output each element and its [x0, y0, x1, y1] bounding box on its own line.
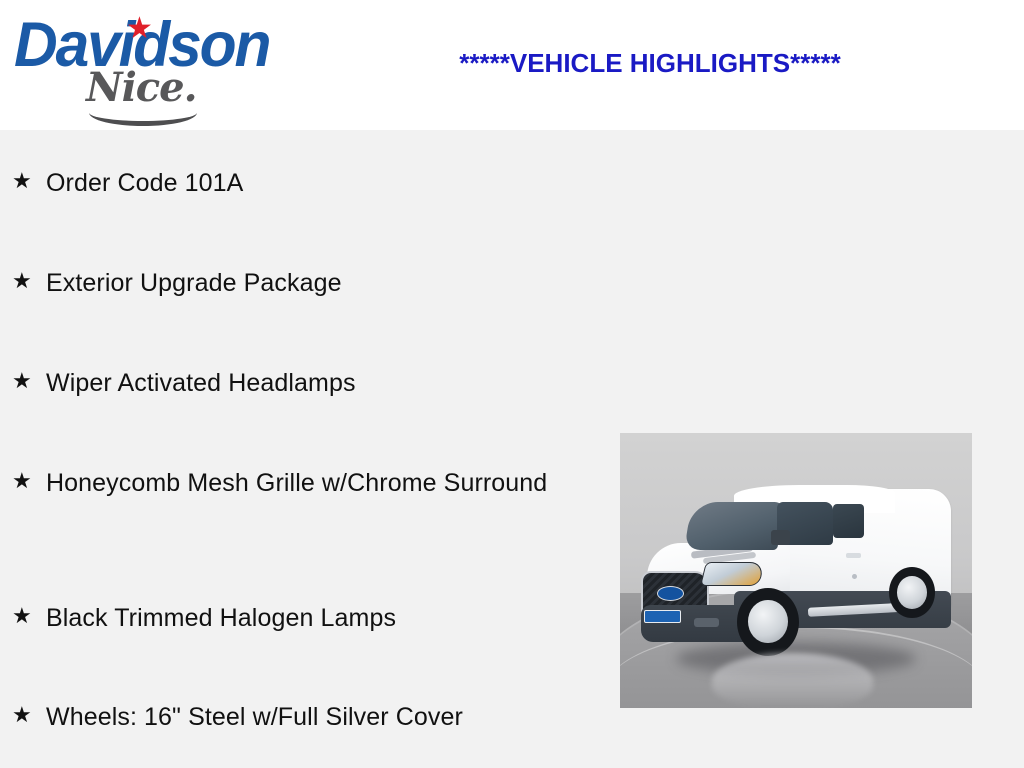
- dealer-logo: Davidson ★ Nice.: [14, 6, 264, 124]
- van-cargo-window: [833, 504, 864, 538]
- van-door-handle: [846, 553, 861, 557]
- logo-swoosh-underline: [89, 110, 197, 126]
- highlight-item: ★Honeycomb Mesh Grille w/Chrome Surround: [12, 466, 592, 501]
- page-title: *****VEHICLE HIGHLIGHTS*****: [300, 48, 1000, 79]
- highlight-item: ★Black Trimmed Halogen Lamps: [12, 601, 592, 636]
- page-body: ★Order Code 101A★Exterior Upgrade Packag…: [0, 130, 1024, 768]
- page-header: Davidson ★ Nice. *****VEHICLE HIGHLIGHTS…: [0, 0, 1024, 130]
- star-bullet-icon: ★: [12, 366, 46, 396]
- van-rear-hubcap: [897, 576, 927, 609]
- van-windshield: [684, 502, 784, 550]
- vehicle-reflection: [712, 653, 874, 708]
- van-front-hubcap: [748, 600, 788, 644]
- vehicle-photo[interactable]: [620, 433, 972, 708]
- highlight-item: ★Wiper Activated Headlamps: [12, 366, 592, 401]
- van-fog-lamp: [694, 618, 719, 627]
- van-headlight: [700, 562, 765, 586]
- star-bullet-icon: ★: [12, 166, 46, 196]
- vehicle-highlights-page: Davidson ★ Nice. *****VEHICLE HIGHLIGHTS…: [0, 0, 1024, 768]
- van-illustration: [641, 485, 951, 656]
- highlight-item: ★Wheels: 16" Steel w/Full Silver Cover: [12, 700, 592, 735]
- logo-brand-secondary: Nice.: [86, 68, 197, 108]
- highlight-item-label: Wiper Activated Headlamps: [46, 366, 592, 401]
- logo-star-icon: ★: [126, 14, 153, 44]
- star-bullet-icon: ★: [12, 700, 46, 730]
- highlight-item: ★Order Code 101A: [12, 166, 592, 201]
- van-fuel-cap: [852, 574, 857, 579]
- star-bullet-icon: ★: [12, 601, 46, 631]
- star-bullet-icon: ★: [12, 466, 46, 496]
- highlight-item-label: Order Code 101A: [46, 166, 592, 201]
- star-bullet-icon: ★: [12, 266, 46, 296]
- van-front-wheel: [737, 588, 799, 656]
- highlight-item-label: Wheels: 16" Steel w/Full Silver Cover: [46, 700, 592, 735]
- highlight-item-label: Honeycomb Mesh Grille w/Chrome Surround: [46, 466, 592, 501]
- highlight-item: ★Exterior Upgrade Package: [12, 266, 592, 301]
- highlight-item-label: Black Trimmed Halogen Lamps: [46, 601, 592, 636]
- highlight-item-label: Exterior Upgrade Package: [46, 266, 592, 301]
- dealer-license-plate: [644, 610, 681, 624]
- van-side-mirror: [771, 530, 790, 545]
